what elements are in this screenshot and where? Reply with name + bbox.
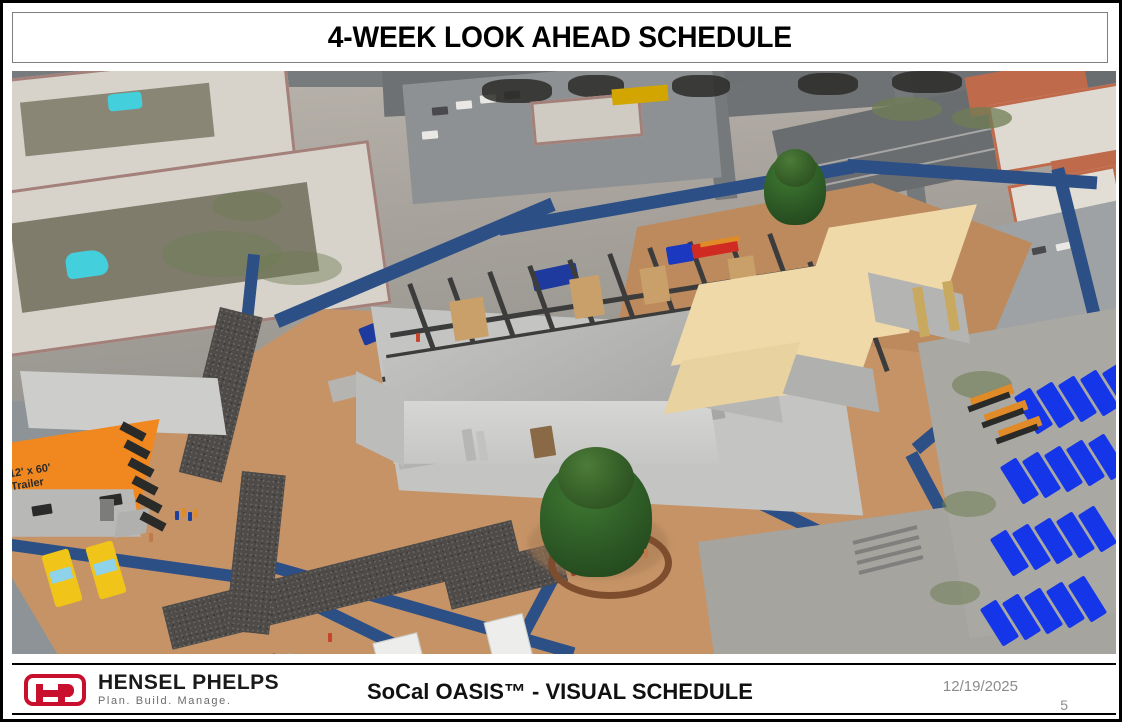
site-render-image: 12' x 60' Trailer [12,71,1116,654]
worker [188,512,192,521]
landscaping [872,97,942,121]
preserved-tree-canopy [558,447,634,509]
page-number: 5 [1060,697,1068,713]
company-name-block: HENSEL PHELPS Plan. Build. Manage. [98,672,279,708]
building-door [530,425,556,458]
wall-panel [569,275,605,319]
slide: 4-WEEK LOOK AHEAD SCHEDULE [0,0,1122,722]
landscaping [942,491,996,517]
company-name: HENSEL PHELPS [98,672,279,694]
aerial-shadow [672,75,730,97]
slide-title-box: 4-WEEK LOOK AHEAD SCHEDULE [12,12,1108,63]
parked-car [422,130,439,139]
project-title: SoCal OASIS™ - VISUAL SCHEDULE [367,679,753,705]
landscaping [252,251,342,285]
worker [416,333,420,342]
trailer-door [100,499,114,521]
page-title: 4-WEEK LOOK AHEAD SCHEDULE [328,21,792,55]
wall-panel [639,265,670,305]
worker [175,511,179,520]
pool [107,91,143,111]
worker [328,633,332,642]
wall-panel [449,297,489,342]
worker [194,509,198,518]
landscaping [212,191,282,221]
aerial-shadow [482,79,552,103]
company-logo: HENSEL PHELPS Plan. Build. Manage. [24,672,279,708]
render-canvas: 12' x 60' Trailer [12,71,1116,654]
slide-footer: HENSEL PHELPS Plan. Build. Manage. SoCal… [12,663,1116,713]
slide-date: 12/19/2025 [943,678,1018,695]
parked-car [456,100,473,109]
landscaping [952,107,1012,129]
worker [182,508,186,517]
worker [644,549,648,558]
landscaping [930,581,980,605]
worker [149,533,153,542]
parked-car [432,106,449,115]
company-tagline: Plan. Build. Manage. [98,694,279,708]
hensel-phelps-hp-monogram-icon [24,674,86,706]
street-tree-canopy [774,149,816,187]
aerial-shadow [798,73,858,95]
aerial-shadow [892,71,962,93]
